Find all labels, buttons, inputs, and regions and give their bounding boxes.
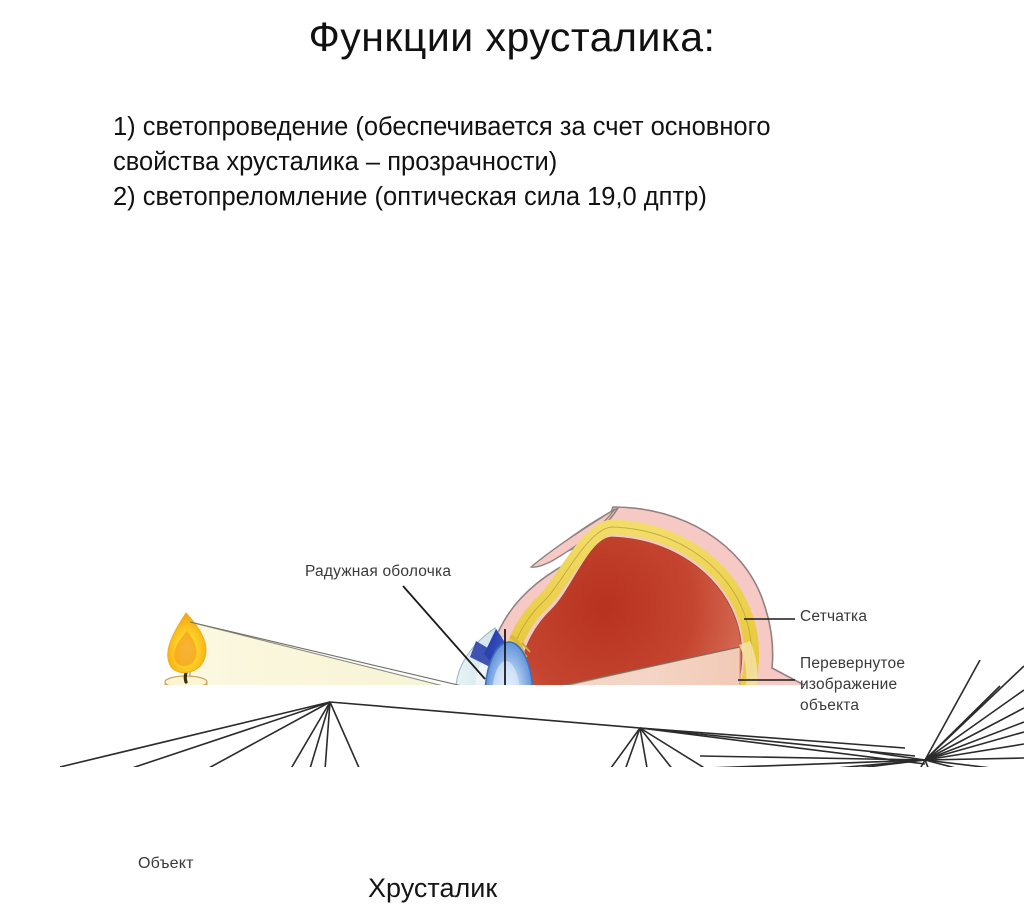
label-retina: Сетчатка [800, 608, 867, 626]
body-line-2: свойства хрусталика – прозрачности) [113, 145, 953, 180]
eye-diagram-svg [0, 245, 1024, 685]
body-text-block: 1) светопроведение (обеспечивается за сч… [113, 110, 953, 215]
label-iris: Радужная оболочка [305, 563, 451, 581]
decorative-polygon-network [0, 660, 1024, 767]
label-object: Объект [138, 855, 194, 873]
body-line-1: 1) светопроведение (обеспечивается за сч… [113, 110, 953, 145]
eye-diagram: Радужная оболочка Сетчатка Перевернутое … [0, 245, 1024, 685]
body-line-3: 2) светопреломление (оптическая сила 19,… [113, 180, 953, 215]
page-title: Функции хрусталика: [0, 14, 1024, 61]
label-lens: Хрусталик [368, 873, 497, 904]
